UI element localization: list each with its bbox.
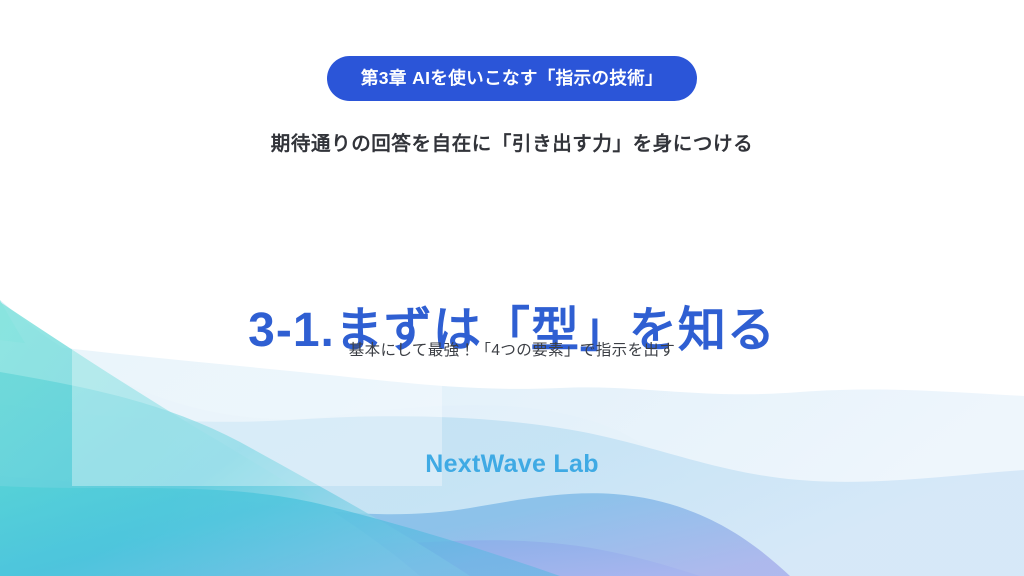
wave-layer-deep-blue bbox=[0, 476, 790, 576]
wave-layer-teal-deep bbox=[0, 486, 560, 576]
wave-layer-mid-blue bbox=[0, 404, 1024, 576]
section-caption: 基本にして最強！「4つの要素」で指示を出す bbox=[0, 338, 1024, 360]
badge-row: 第3章 AIを使いこなす「指示の技術」 bbox=[0, 56, 1024, 101]
chapter-subtitle: 期待通りの回答を自在に「引き出す力」を身につける bbox=[0, 127, 1024, 156]
slide-canvas: 第3章 AIを使いこなす「指示の技術」 期待通りの回答を自在に「引き出す力」を身… bbox=[0, 0, 1024, 576]
chapter-badge: 第3章 AIを使いこなす「指示の技術」 bbox=[327, 56, 697, 101]
brand-logo-text: NextWave Lab bbox=[0, 450, 1024, 479]
wave-layer-periwinkle bbox=[0, 520, 700, 576]
